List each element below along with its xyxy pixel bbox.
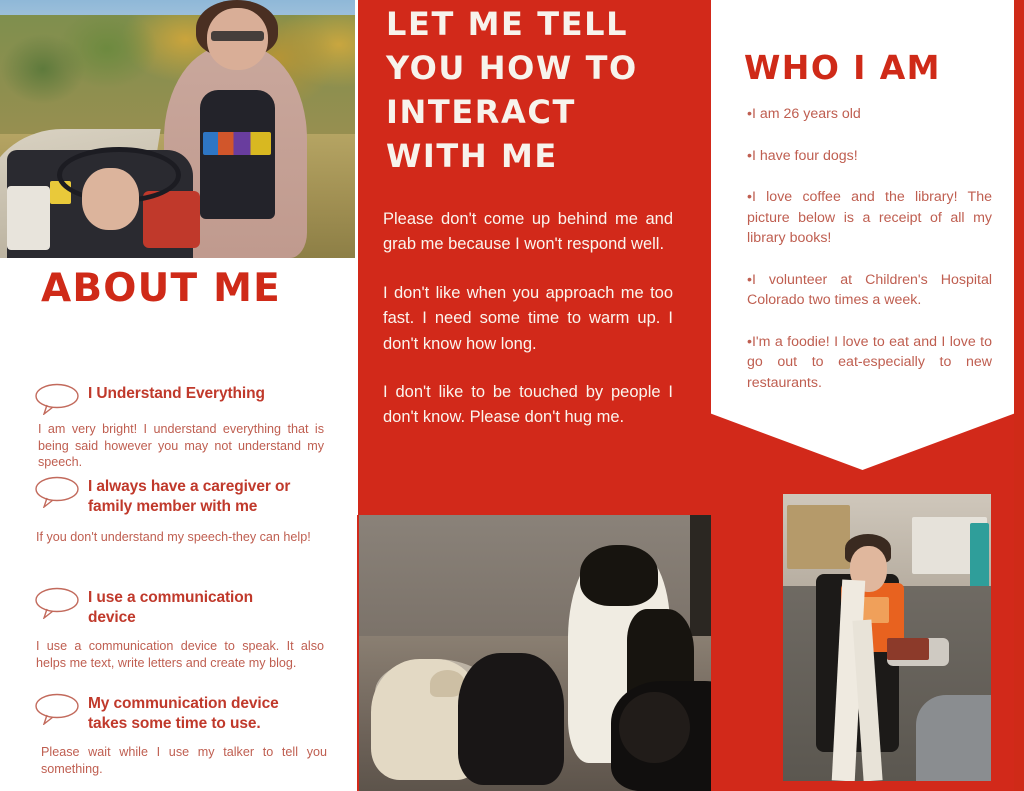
photo-red-bag: [143, 191, 200, 248]
about-me-heading: ABOUT ME: [41, 263, 341, 315]
interact-body: Please don't come up behind me and grab …: [383, 207, 673, 454]
interact-heading: LET ME TELL YOU HOW TO INTERACT WITH ME: [386, 2, 686, 178]
photo-bookshelf: [787, 505, 849, 568]
about-item-4: My communication device takes some time …: [0, 691, 357, 777]
photo-park-portrait: [0, 0, 357, 258]
photo-man-face: [82, 168, 139, 230]
speech-bubble-icon: [34, 476, 80, 508]
about-item-2: I always have a caregiver or family memb…: [0, 474, 357, 546]
photo-foreground-object: [916, 695, 991, 781]
who-i-am-heading: WHO I AM: [744, 48, 1004, 88]
list-item: •I have four dogs!: [747, 146, 992, 167]
about-item-body: If you don't understand my speech-they c…: [36, 529, 324, 546]
photo-four-dogs: [359, 515, 711, 791]
left-column: ABOUT ME I Understand Everything I am ve…: [0, 0, 357, 791]
about-item-body: I am very bright! I understand everythin…: [38, 421, 324, 471]
photo-dog-black: [458, 653, 564, 785]
about-item-title: I Understand Everything: [88, 381, 265, 404]
about-item-title: I use a communication device: [88, 585, 283, 627]
photo-dog-face: [619, 692, 690, 764]
speech-bubble-icon: [34, 383, 80, 415]
middle-column: LET ME TELL YOU HOW TO INTERACT WITH ME …: [357, 0, 711, 791]
interact-paragraph: I don't like to be touched by people I d…: [383, 380, 673, 431]
list-item: •I'm a foodie! I love to eat and I love …: [747, 332, 992, 394]
list-item: •I am 26 years old: [747, 104, 992, 125]
about-item-title: I always have a caregiver or family memb…: [88, 474, 303, 516]
column-seam: [355, 0, 358, 515]
photo-magazine: [887, 638, 929, 661]
about-item-body: Please wait while I use my talker to tel…: [41, 744, 327, 777]
about-item-body: I use a communication device to speak. I…: [36, 638, 324, 671]
photo-dog-head: [580, 545, 659, 606]
list-item: •I love coffee and the library! The pict…: [747, 187, 992, 249]
brochure-page: ABOUT ME I Understand Everything I am ve…: [0, 0, 1024, 791]
about-me-section: ABOUT ME I Understand Everything I am ve…: [0, 258, 357, 791]
photo-inner: [783, 494, 991, 781]
about-item-3: I use a communication device I use a com…: [0, 585, 357, 671]
about-item-1: I Understand Everything I am very bright…: [0, 381, 357, 471]
right-column: WHO I AM •I am 26 years old •I have four…: [711, 0, 1024, 791]
speech-bubble-icon: [34, 587, 80, 619]
interact-paragraph: Please don't come up behind me and grab …: [383, 207, 673, 258]
speech-bubble-icon: [34, 693, 80, 725]
about-item-title: My communication device takes some time …: [88, 691, 288, 733]
photo-supply-bag: [7, 186, 50, 251]
right-edge-accent: [1014, 0, 1024, 791]
who-i-am-list: •I am 26 years old •I have four dogs! •I…: [747, 104, 992, 414]
photo-woman-shirt: [200, 90, 275, 219]
hope-logo-graphic: [203, 132, 271, 155]
list-item: •I volunteer at Children's Hospital Colo…: [747, 270, 992, 311]
interact-paragraph: I don't like when you approach me too fa…: [383, 281, 673, 357]
glasses-icon: [211, 31, 265, 41]
photo-wall-shadow: [690, 515, 711, 653]
photo-library-receipt: [763, 474, 1011, 791]
